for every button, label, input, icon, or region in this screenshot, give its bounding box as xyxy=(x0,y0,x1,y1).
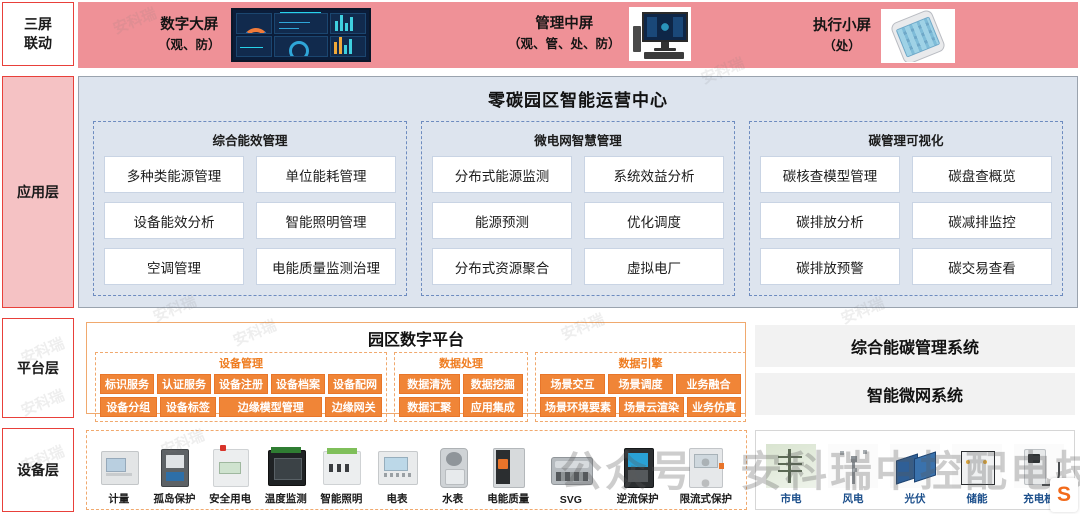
platform-group-title-device-management: 设备管理 xyxy=(100,355,382,371)
source-item-grid-power[interactable]: 市电 xyxy=(760,434,822,506)
app-cell[interactable]: 碳排放分析 xyxy=(760,202,900,239)
rail-label-line1: 三屏 xyxy=(24,16,52,32)
app-cell[interactable]: 智能照明管理 xyxy=(256,202,396,239)
app-cell[interactable]: 碳盘查概览 xyxy=(912,156,1052,193)
big-screen-sub: （观、防） xyxy=(158,36,221,54)
platform-layer-panel: 园区数字平台 设备管理 标识服务 认证服务 设备注册 设备档案 设备配网 设备分… xyxy=(86,322,746,414)
device-item-current-limiting-protection[interactable]: 限流式保护 xyxy=(670,434,742,506)
device-caption: 电表 xyxy=(387,491,408,506)
source-item-wind-power[interactable]: 风电 xyxy=(822,434,884,506)
desktop-monitor-icon xyxy=(629,7,691,61)
app-cell[interactable]: 虚拟电厂 xyxy=(584,248,724,285)
platform-chip-row: 数据清洗 数据挖掘 xyxy=(399,374,523,394)
platform-chip[interactable]: 设备标签 xyxy=(160,397,217,417)
platform-chip[interactable]: 设备分组 xyxy=(100,397,157,417)
application-center-title: 零碳园区智能运营中心 xyxy=(79,86,1077,111)
device-item-backflow-protection[interactable]: 逆流保护 xyxy=(606,434,670,506)
rail-item-platform-layer[interactable]: 平台层 xyxy=(2,318,74,418)
small-screen-label: 执行小屏 （处） xyxy=(813,16,871,55)
device-strip: 计量 孤岛保护 安全用电 温度监测 智能照明 电表 xyxy=(87,434,746,506)
app-cell[interactable]: 分布式资源聚合 xyxy=(432,248,572,285)
dashboard-screen-icon xyxy=(231,8,371,62)
rail-item-application-layer[interactable]: 应用层 xyxy=(2,76,74,308)
platform-chip[interactable]: 数据清洗 xyxy=(399,374,460,394)
platform-chip[interactable]: 业务融合 xyxy=(676,374,741,394)
small-screen-sub: （处） xyxy=(813,37,871,55)
rail-item-device-layer[interactable]: 设备层 xyxy=(2,428,74,512)
lighting-controller-icon xyxy=(320,445,362,489)
application-groups: 综合能效管理 多种类能源管理 单位能耗管理 设备能效分析 智能照明管理 空调管理… xyxy=(79,111,1077,296)
platform-chip[interactable]: 认证服务 xyxy=(157,374,211,394)
device-caption: SVG xyxy=(560,494,582,506)
platform-group-title-data-processing: 数据处理 xyxy=(399,355,523,371)
source-item-energy-storage[interactable]: 储能 xyxy=(946,434,1008,506)
rail-label-application-layer: 应用层 xyxy=(17,183,59,202)
platform-chip-row: 场景交互 场景调度 业务融合 xyxy=(540,374,741,394)
device-item-svg[interactable]: SVG xyxy=(536,434,606,506)
device-item-electric-meter[interactable]: 电表 xyxy=(369,434,425,506)
three-screen-band: 数字大屏 （观、防） xyxy=(78,2,1078,68)
app-group-grid-microgrid: 分布式能源监测 系统效益分析 能源预测 优化调度 分布式资源聚合 虚拟电厂 xyxy=(432,156,724,285)
solar-panel-icon xyxy=(890,444,940,488)
platform-chip[interactable]: 标识服务 xyxy=(100,374,154,394)
device-caption: 水表 xyxy=(442,491,463,506)
device-caption: 计量 xyxy=(108,491,129,506)
platform-chip-row: 设备分组 设备标签 边缘模型管理 边缘网关 xyxy=(100,397,382,417)
app-cell[interactable]: 系统效益分析 xyxy=(584,156,724,193)
device-item-temperature-monitoring[interactable]: 温度监测 xyxy=(258,434,314,506)
screen-item-big-screen[interactable]: 数字大屏 （观、防） xyxy=(158,8,371,62)
platform-title: 园区数字平台 xyxy=(87,326,745,350)
system-label-carbon: 综合能碳管理系统 xyxy=(851,334,979,358)
device-item-island-protection[interactable]: 孤岛保护 xyxy=(147,434,203,506)
platform-chip[interactable]: 应用集成 xyxy=(463,397,524,417)
mid-screen-title: 管理中屏 xyxy=(535,16,593,32)
water-meter-icon xyxy=(432,445,474,489)
electric-meter-icon xyxy=(376,445,418,489)
safety-monitor-icon xyxy=(209,445,251,489)
source-item-pv-power[interactable]: 光伏 xyxy=(884,434,946,506)
platform-chip[interactable]: 设备注册 xyxy=(214,374,268,394)
app-group-title-microgrid: 微电网智慧管理 xyxy=(432,130,724,149)
battery-cabinet-icon xyxy=(952,444,1002,488)
device-item-metering[interactable]: 计量 xyxy=(91,434,147,506)
platform-chip[interactable]: 场景交互 xyxy=(540,374,605,394)
power-quality-device-icon xyxy=(487,445,529,489)
app-group-title-carbon-visual: 碳管理可视化 xyxy=(760,130,1052,149)
app-group-energy-efficiency: 综合能效管理 多种类能源管理 单位能耗管理 设备能效分析 智能照明管理 空调管理… xyxy=(93,121,407,296)
app-cell[interactable]: 碳减排监控 xyxy=(912,202,1052,239)
platform-chip[interactable]: 场景调度 xyxy=(608,374,673,394)
platform-chip[interactable]: 数据挖掘 xyxy=(463,374,524,394)
din-rail-meter-icon xyxy=(98,445,140,489)
screen-item-small-screen[interactable]: 执行小屏 （处） xyxy=(813,9,955,63)
device-caption: 安全用电 xyxy=(209,491,251,506)
application-layer-panel: 零碳园区智能运营中心 综合能效管理 多种类能源管理 单位能耗管理 设备能效分析 … xyxy=(78,76,1078,308)
smartphone-icon xyxy=(881,9,955,63)
platform-chip-row: 标识服务 认证服务 设备注册 设备档案 设备配网 xyxy=(100,374,382,394)
platform-chip[interactable]: 设备档案 xyxy=(271,374,325,394)
device-caption: 孤岛保护 xyxy=(153,491,195,506)
device-caption: 限流式保护 xyxy=(680,491,733,506)
app-cell[interactable]: 空调管理 xyxy=(104,248,244,285)
app-cell[interactable]: 优化调度 xyxy=(584,202,724,239)
app-cell[interactable]: 分布式能源监测 xyxy=(432,156,572,193)
backflow-protection-icon xyxy=(617,445,659,489)
device-layer-panel: 计量 孤岛保护 安全用电 温度监测 智能照明 电表 xyxy=(86,430,747,510)
screen-item-mid-screen[interactable]: 管理中屏 （观、管、处、防） xyxy=(508,7,691,61)
device-item-smart-lighting[interactable]: 智能照明 xyxy=(314,434,370,506)
power-tower-icon xyxy=(766,444,816,488)
app-cell[interactable]: 电能质量监测治理 xyxy=(256,248,396,285)
current-limiting-protector-icon xyxy=(685,445,727,489)
protection-relay-icon xyxy=(153,445,195,489)
app-group-grid-energy-efficiency: 多种类能源管理 单位能耗管理 设备能效分析 智能照明管理 空调管理 电能质量监测… xyxy=(104,156,396,285)
platform-groups: 设备管理 标识服务 认证服务 设备注册 设备档案 设备配网 设备分组 设备标签 … xyxy=(87,350,745,422)
platform-chip[interactable]: 数据汇聚 xyxy=(399,397,460,417)
platform-chip[interactable]: 边缘模型管理 xyxy=(219,397,322,417)
rail-label-line2: 联动 xyxy=(24,35,52,51)
device-item-water-meter[interactable]: 水表 xyxy=(425,434,481,506)
system-box-carbon[interactable]: 综合能碳管理系统 xyxy=(755,325,1075,367)
rail-label-three-screen: 三屏 联动 xyxy=(24,15,52,53)
platform-chip-row: 数据汇聚 应用集成 xyxy=(399,397,523,417)
mid-screen-sub: （观、管、处、防） xyxy=(508,35,621,53)
app-cell[interactable]: 碳交易查看 xyxy=(912,248,1052,285)
platform-chip[interactable]: 边缘网关 xyxy=(325,397,382,417)
app-group-title-energy-efficiency: 综合能效管理 xyxy=(104,130,396,149)
app-cell[interactable]: 碳核查模型管理 xyxy=(760,156,900,193)
app-cell[interactable]: 碳排放预警 xyxy=(760,248,900,285)
system-label-microgrid: 智能微网系统 xyxy=(867,382,963,406)
app-group-grid-carbon-visual: 碳核查模型管理 碳盘查概览 碳排放分析 碳减排监控 碳排放预警 碳交易查看 xyxy=(760,156,1052,285)
svg-compensator-icon xyxy=(550,448,592,492)
energy-source-panel: 市电 风电 光伏 储能 充电桩 xyxy=(755,430,1075,510)
app-cell[interactable]: 单位能耗管理 xyxy=(256,156,396,193)
device-caption: 温度监测 xyxy=(265,491,307,506)
energy-source-strip: 市电 风电 光伏 储能 充电桩 xyxy=(756,434,1074,506)
source-caption: 风电 xyxy=(843,491,864,506)
app-group-carbon-visual: 碳管理可视化 碳核查模型管理 碳盘查概览 碳排放分析 碳减排监控 碳排放预警 碳… xyxy=(749,121,1063,296)
small-screen-title: 执行小屏 xyxy=(813,18,871,34)
device-caption: 智能照明 xyxy=(320,491,362,506)
app-group-microgrid: 微电网智慧管理 分布式能源监测 系统效益分析 能源预测 优化调度 分布式资源聚合… xyxy=(421,121,735,296)
device-item-electrical-safety[interactable]: 安全用电 xyxy=(202,434,258,506)
device-item-power-quality[interactable]: 电能质量 xyxy=(480,434,536,506)
platform-chip[interactable]: 场景云渲染 xyxy=(619,397,684,417)
platform-chip[interactable]: 设备配网 xyxy=(328,374,382,394)
app-cell[interactable]: 设备能效分析 xyxy=(104,202,244,239)
source-caption: 储能 xyxy=(967,491,988,506)
rail-item-three-screen[interactable]: 三屏 联动 xyxy=(2,2,74,66)
sogou-badge-icon[interactable]: S xyxy=(1050,478,1078,512)
architecture-diagram: 三屏 联动 应用层 平台层 设备层 数字大屏 （观、防） xyxy=(0,0,1080,514)
big-screen-label: 数字大屏 （观、防） xyxy=(158,15,221,54)
platform-group-title-data-engine: 数据引擎 xyxy=(540,355,741,371)
device-caption: 逆流保护 xyxy=(617,491,659,506)
platform-group-data-processing: 数据处理 数据清洗 数据挖掘 数据汇聚 应用集成 xyxy=(394,352,528,422)
app-cell[interactable]: 多种类能源管理 xyxy=(104,156,244,193)
platform-group-data-engine: 数据引擎 场景交互 场景调度 业务融合 场景环境要素 场景云渲染 业务仿真 xyxy=(535,352,746,422)
platform-chip[interactable]: 业务仿真 xyxy=(687,397,741,417)
wind-turbine-icon xyxy=(828,444,878,488)
source-caption: 光伏 xyxy=(905,491,926,506)
big-screen-title: 数字大屏 xyxy=(160,17,218,33)
rail-label-device-layer: 设备层 xyxy=(17,461,59,480)
platform-group-device-management: 设备管理 标识服务 认证服务 设备注册 设备档案 设备配网 设备分组 设备标签 … xyxy=(95,352,387,422)
platform-chip-row: 场景环境要素 场景云渲染 业务仿真 xyxy=(540,397,741,417)
mid-screen-label: 管理中屏 （观、管、处、防） xyxy=(508,14,621,53)
rail-label-platform-layer: 平台层 xyxy=(17,359,59,378)
platform-chip[interactable]: 场景环境要素 xyxy=(540,397,616,417)
app-cell[interactable]: 能源预测 xyxy=(432,202,572,239)
temperature-monitor-icon xyxy=(265,445,307,489)
source-caption: 市电 xyxy=(781,491,802,506)
device-caption: 电能质量 xyxy=(487,491,529,506)
system-box-microgrid[interactable]: 智能微网系统 xyxy=(755,373,1075,415)
